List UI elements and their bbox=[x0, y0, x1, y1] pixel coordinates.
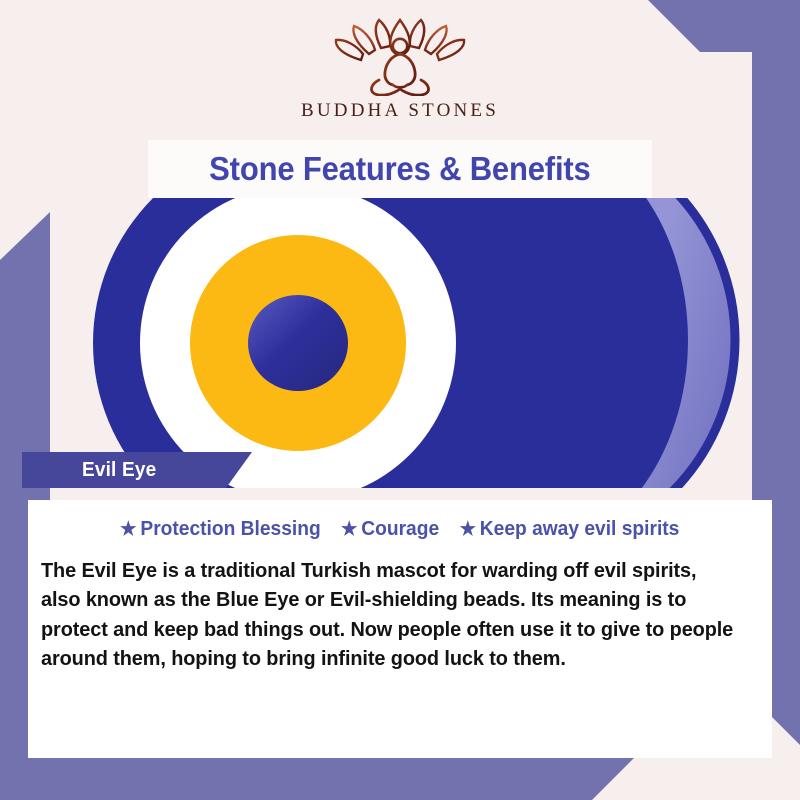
brand-name: BUDDHA STONES bbox=[301, 100, 499, 122]
info-card: ★ Protection Blessing ★ Courage ★ Keep a… bbox=[28, 500, 772, 758]
feature-label: Courage bbox=[361, 518, 439, 541]
feature-item: ★ Courage bbox=[341, 518, 439, 541]
feature-label: Protection Blessing bbox=[140, 518, 320, 541]
features-list: ★ Protection Blessing ★ Courage ★ Keep a… bbox=[36, 512, 764, 546]
description-text: The Evil Eye is a traditional Turkish ma… bbox=[41, 556, 737, 673]
page-title: Stone Features & Benefits bbox=[209, 150, 590, 188]
feature-item: ★ Keep away evil spirits bbox=[460, 518, 680, 541]
brand-header: BUDDHA STONES bbox=[0, 0, 800, 140]
star-icon: ★ bbox=[120, 520, 136, 539]
stone-label-text: Evil Eye bbox=[82, 459, 156, 482]
hero-artwork bbox=[50, 198, 752, 488]
stone-label-banner: Evil Eye bbox=[22, 452, 252, 488]
title-strip: Stone Features & Benefits bbox=[148, 140, 652, 198]
poster-root: BUDDHA STONES Stone Features & Benefits bbox=[0, 0, 800, 800]
frame-band-bottom bbox=[0, 752, 640, 800]
star-icon: ★ bbox=[460, 520, 476, 539]
evil-eye-bead-icon bbox=[50, 198, 752, 488]
feature-item: ★ Protection Blessing bbox=[120, 518, 321, 541]
feature-label: Keep away evil spirits bbox=[480, 518, 680, 541]
lotus-meditation-icon bbox=[325, 18, 475, 96]
star-icon: ★ bbox=[341, 520, 357, 539]
